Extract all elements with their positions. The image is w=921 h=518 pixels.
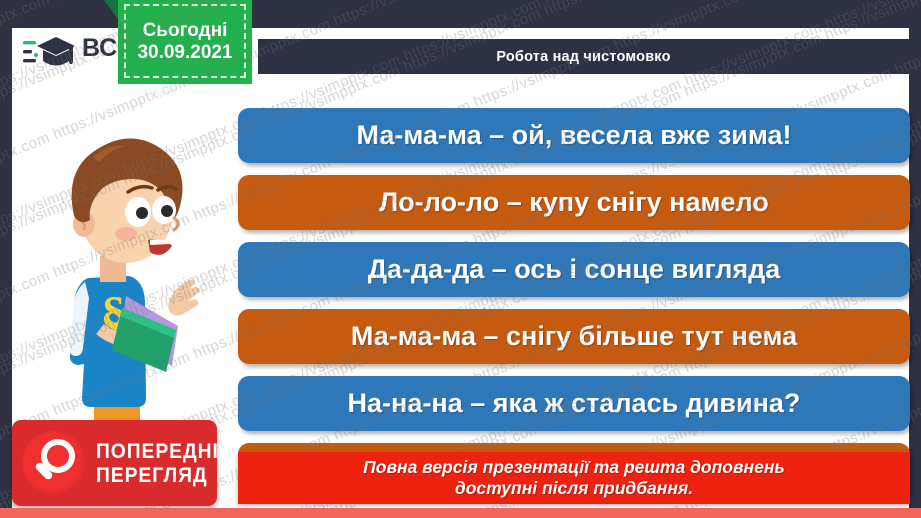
magnifier-icon (22, 431, 86, 495)
phrase-text-5: На-на-на – яка ж сталась дивина? (348, 388, 801, 419)
purchase-notice-strip: Повна версія презентації та решта доповн… (238, 452, 910, 504)
today-date-badge: Сьогодні 30.09.2021 (118, 0, 252, 84)
graduation-cap-icon (22, 35, 76, 73)
phrase-text-2: Ло-ло-ло – купу снігу намело (379, 187, 769, 218)
today-label: Сьогодні (143, 20, 228, 42)
boy-nose (174, 218, 178, 230)
slide-title-bar: Робота над чистомовко (258, 39, 909, 74)
phrase-text-3: Да-да-да – ось і сонце вигляда (368, 254, 781, 285)
boy-pupil-left (136, 207, 148, 219)
phrase-bar-2[interactable]: Ло-ло-ло – купу снігу намело (238, 175, 910, 230)
notice-line-1: Повна версія презентації та решта доповн… (363, 457, 785, 478)
phrase-bar-4[interactable]: Ма-ма-ма – снігу більше тут нема (238, 309, 910, 364)
preview-label-line1: ПОПЕРЕДНІЙ (96, 441, 234, 462)
boy-teeth (150, 239, 170, 245)
phrase-bar-3[interactable]: Да-да-да – ось і сонце вигляда (238, 242, 910, 297)
preview-badge[interactable]: ПОПЕРЕДНІЙ ПЕРЕГЛЯД (12, 420, 217, 506)
phrase-text-1: Ма-ма-ма – ой, весела вже зима! (357, 120, 792, 151)
boy-pupil-right (161, 205, 173, 217)
page-title: Робота над чистомовко (496, 49, 670, 65)
phrase-bar-1[interactable]: Ма-ма-ма – ой, весела вже зима! (238, 108, 910, 163)
phrase-text-4: Ма-ма-ма – снігу більше тут нема (351, 321, 797, 352)
boy-hand (168, 280, 200, 316)
today-date-value: 30.09.2021 (137, 42, 232, 64)
phrase-bar-5[interactable]: На-на-на – яка ж сталась дивина? (238, 376, 910, 431)
preview-label-line2: ПЕРЕГЛЯД (96, 465, 234, 486)
boy-reading-book-illustration: § (22, 106, 232, 426)
slide-root: § (0, 0, 921, 518)
notice-line-2: доступні після придбання. (455, 478, 693, 499)
boy-cheek (115, 227, 137, 241)
bottom-red-band (0, 508, 921, 518)
phrase-bar-list: Ма-ма-ма – ой, весела вже зима! Ло-ло-ло… (238, 108, 910, 510)
